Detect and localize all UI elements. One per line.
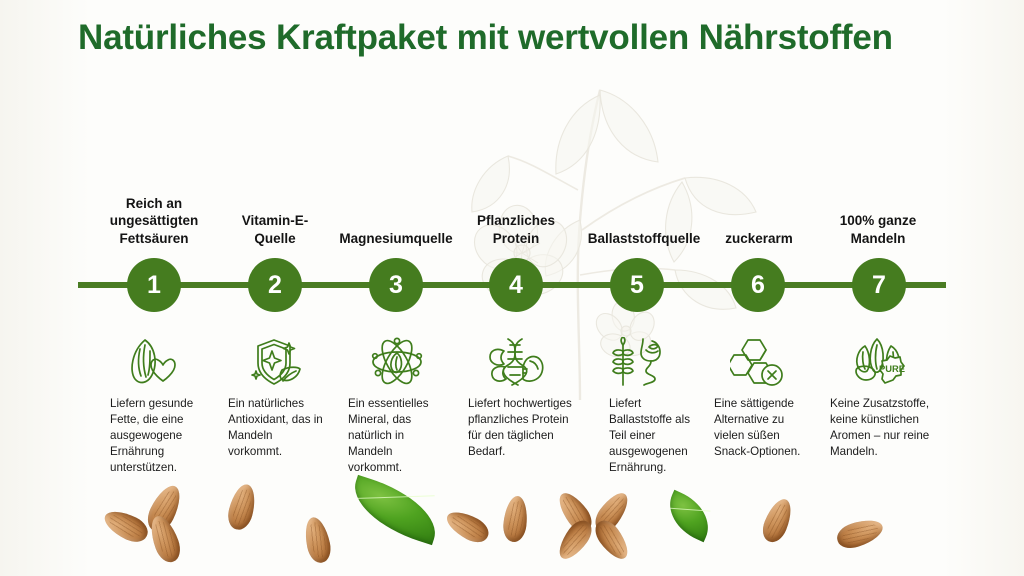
step-description-5: Liefert Ballaststoffe als Teil einer aus… bbox=[609, 396, 705, 475]
almond-photo bbox=[225, 482, 259, 532]
step-heading-7: 100% ganze Mandeln bbox=[818, 212, 938, 247]
step-heading-3: Magnesiumquelle bbox=[325, 230, 467, 247]
almond-photo bbox=[143, 481, 187, 536]
step-heading-2: Vitamin-E-Quelle bbox=[226, 212, 324, 247]
node-number: 2 bbox=[268, 271, 282, 300]
step-description-4: Liefert hochwertiges pflanzliches Protei… bbox=[468, 396, 572, 460]
background-tint-right bbox=[944, 0, 1024, 576]
node-number: 4 bbox=[509, 271, 523, 300]
almond-photo bbox=[553, 488, 597, 537]
background-tint-left bbox=[0, 0, 90, 576]
step-heading-wrap-5: Ballaststoffquelle bbox=[569, 183, 719, 247]
dna-muscle-arm-icon bbox=[488, 337, 546, 387]
almond-photo bbox=[301, 515, 333, 565]
almond-photo bbox=[442, 506, 493, 547]
step-heading-4: Pflanzliches Protein bbox=[463, 212, 569, 247]
step-description-7: Keine Zusatzstoffe, keine künstlichen Ar… bbox=[830, 396, 938, 460]
almond-photo bbox=[590, 516, 634, 565]
step-heading-wrap-3: Magnesiumquelle bbox=[325, 183, 467, 247]
step-description-2: Ein natürliches Antioxidant, das in Mand… bbox=[228, 396, 328, 460]
almond-photo bbox=[758, 495, 796, 545]
node-number: 3 bbox=[389, 271, 403, 300]
almond-photo bbox=[834, 515, 886, 552]
timeline-node-3[interactable]: 3 bbox=[369, 258, 423, 312]
node-number: 7 bbox=[872, 271, 886, 300]
shield-sparkle-leaf-icon bbox=[248, 337, 302, 387]
almond-photo bbox=[146, 512, 185, 565]
almond-photo bbox=[553, 516, 597, 565]
honeycomb-no-sugar-icon bbox=[730, 337, 786, 387]
timeline-node-4[interactable]: 4 bbox=[489, 258, 543, 312]
icon-wrap-7: PURE bbox=[849, 336, 911, 388]
icon-wrap-6 bbox=[728, 336, 788, 388]
node-number: 5 bbox=[630, 271, 644, 300]
node-number: 1 bbox=[147, 271, 161, 300]
leaf-photo bbox=[344, 475, 445, 545]
icon-wrap-1 bbox=[124, 336, 184, 388]
step-heading-6: zuckerarm bbox=[714, 230, 804, 247]
icon-wrap-5 bbox=[606, 336, 668, 388]
icon-wrap-2 bbox=[245, 336, 305, 388]
step-heading-wrap-4: Pflanzliches Protein bbox=[463, 183, 569, 247]
almonds-pure-badge-icon: PURE bbox=[851, 337, 909, 387]
step-heading-wrap-7: 100% ganze Mandeln bbox=[818, 183, 938, 247]
almond-photo bbox=[590, 488, 634, 537]
almond-photo bbox=[502, 495, 530, 543]
timeline-node-2[interactable]: 2 bbox=[248, 258, 302, 312]
icon-wrap-3 bbox=[367, 336, 427, 388]
step-description-6: Eine sättigende Alternative zu vielen sü… bbox=[714, 396, 814, 460]
timeline-node-5[interactable]: 5 bbox=[610, 258, 664, 312]
almond-heart-icon bbox=[127, 337, 181, 387]
page-title: Natürliches Kraftpaket mit wertvollen Nä… bbox=[78, 14, 938, 62]
timeline-node-1[interactable]: 1 bbox=[127, 258, 181, 312]
almond-and-leaf-photo-strip bbox=[0, 470, 1024, 576]
icon-wrap-4 bbox=[486, 336, 548, 388]
step-description-1: Liefern gesunde Fette, die eine ausgewog… bbox=[110, 396, 206, 475]
atom-almond-icon bbox=[370, 337, 424, 387]
pure-badge-label: PURE bbox=[879, 363, 905, 374]
step-heading-wrap-2: Vitamin-E-Quelle bbox=[226, 183, 324, 247]
step-heading-1: Reich an ungesättigten Fettsäuren bbox=[94, 195, 214, 247]
step-description-3: Ein essentielles Mineral, das natürlich … bbox=[348, 396, 440, 475]
step-heading-wrap-6: zuckerarm bbox=[714, 183, 804, 247]
wheat-digestion-icon bbox=[608, 337, 666, 387]
timeline-node-7[interactable]: 7 bbox=[852, 258, 906, 312]
infographic-canvas: Natürliches Kraftpaket mit wertvollen Nä… bbox=[0, 0, 1024, 576]
step-heading-wrap-1: Reich an ungesättigten Fettsäuren bbox=[94, 183, 214, 247]
node-number: 6 bbox=[751, 271, 765, 300]
step-heading-5: Ballaststoffquelle bbox=[569, 230, 719, 247]
timeline-node-6[interactable]: 6 bbox=[731, 258, 785, 312]
almond-photo bbox=[100, 505, 152, 547]
leaf-photo bbox=[660, 490, 718, 542]
